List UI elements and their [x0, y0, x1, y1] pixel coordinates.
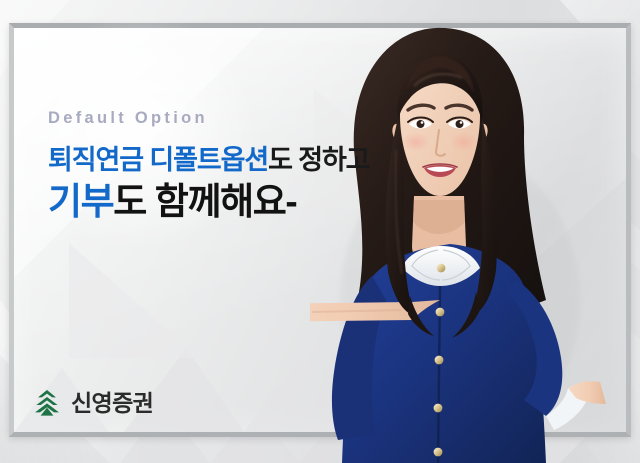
- headline-1-rest: 도 정하고: [268, 145, 369, 175]
- brand-logo[interactable]: 신영증권: [32, 388, 153, 418]
- headline-1-accent: 퇴직연금 디폴트옵션: [48, 145, 268, 175]
- pine-tree-icon: [32, 388, 62, 418]
- headline-2-rest: 도 함께해요-: [113, 181, 296, 222]
- promo-banner: Default Option 퇴직연금 디폴트옵션도 정하고 기부도 함께해요-…: [0, 0, 640, 463]
- headline-line-1: 퇴직연금 디폴트옵션도 정하고: [48, 146, 369, 175]
- eyebrow-text: Default Option: [48, 110, 369, 127]
- headline-line-2: 기부도 함께해요-: [48, 182, 369, 221]
- whiteboard-frame: [9, 23, 631, 437]
- board-facet-pattern: [14, 28, 626, 432]
- headline-2-accent: 기부: [48, 181, 113, 222]
- brand-wordmark: 신영증권: [71, 392, 153, 415]
- headline-block: Default Option 퇴직연금 디폴트옵션도 정하고 기부도 함께해요-: [48, 110, 369, 221]
